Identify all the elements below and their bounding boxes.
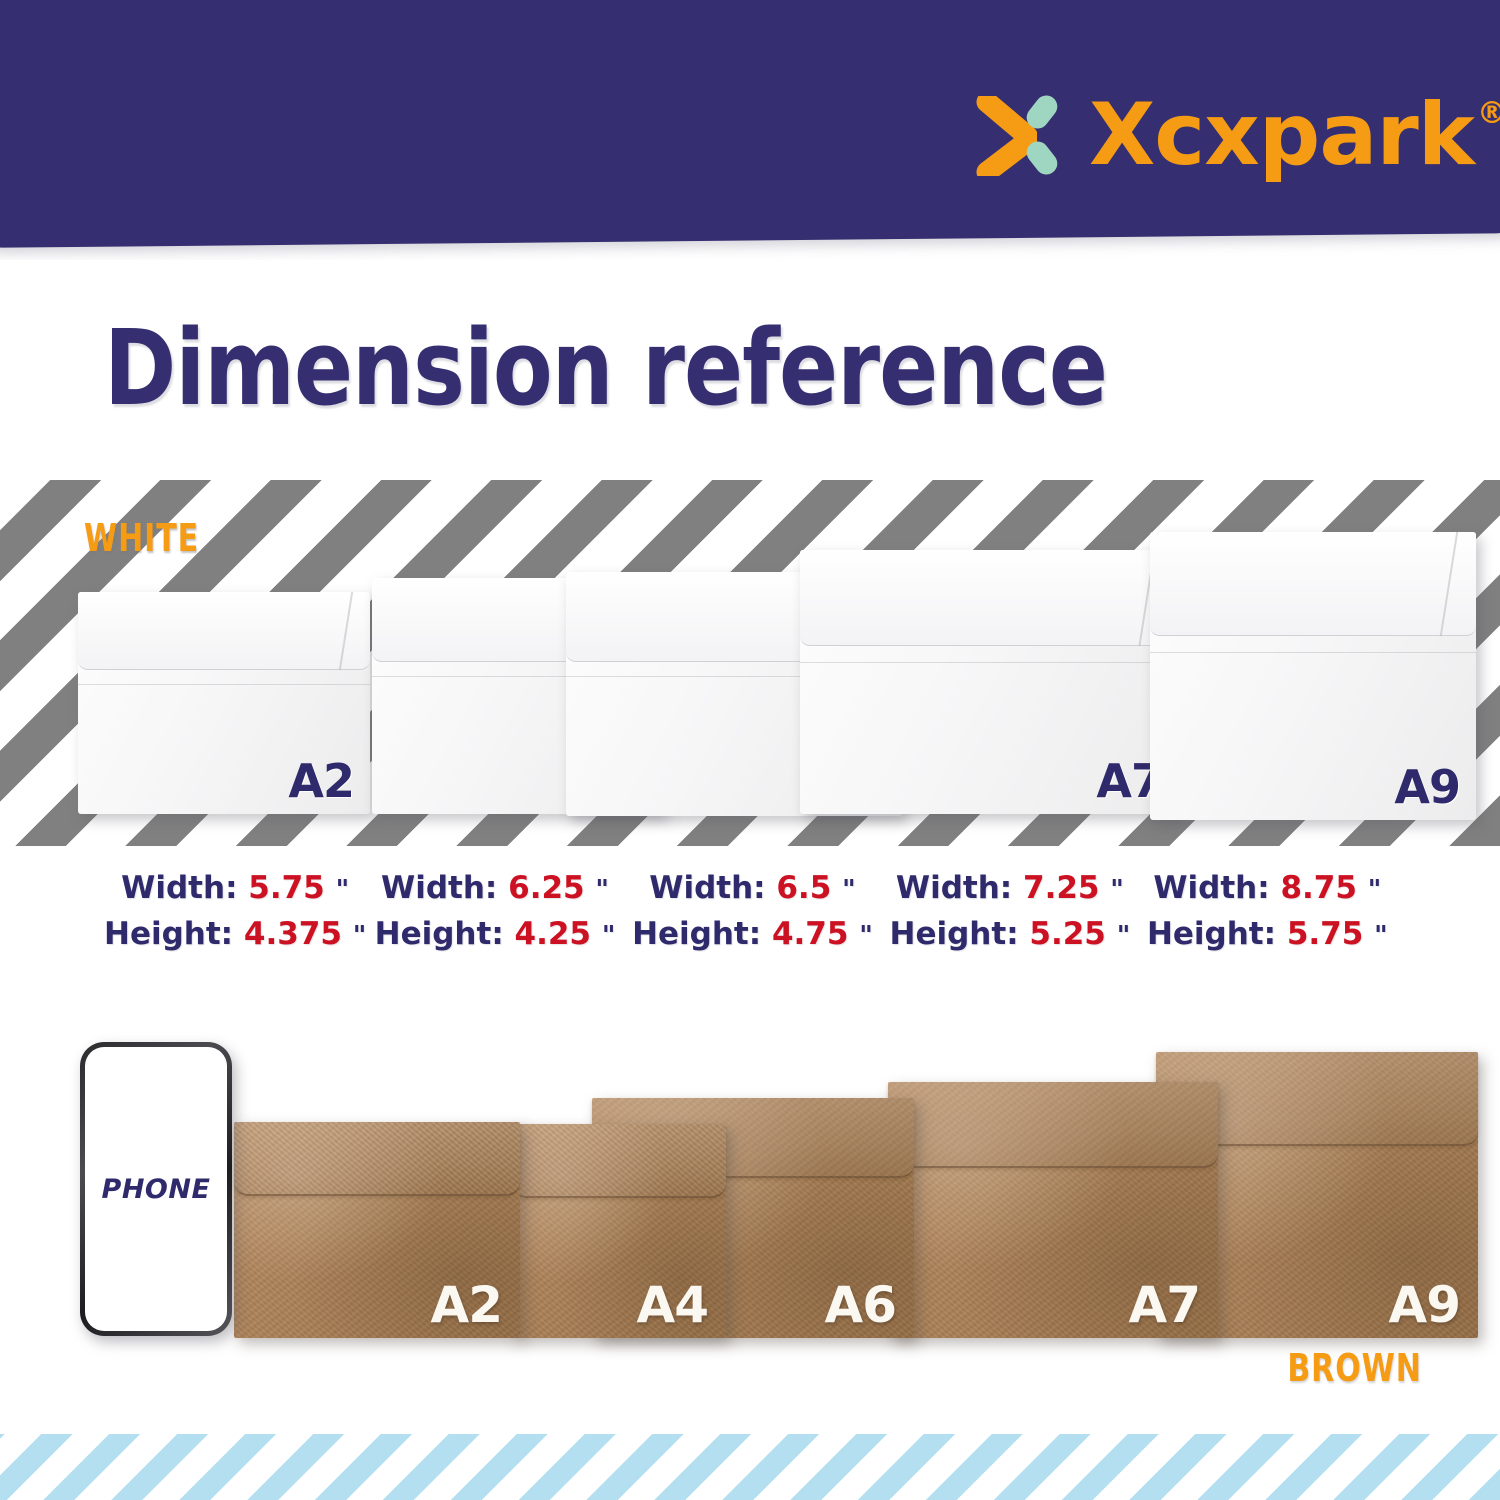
white-section-label: WHITE <box>84 516 199 560</box>
unit: " <box>602 921 616 951</box>
height-label: Height: <box>104 916 233 952</box>
envelope-flap <box>888 1082 1218 1168</box>
envelope-code: A2 <box>431 1276 503 1334</box>
unit: " <box>353 921 367 951</box>
height-row: Height: 5.75 " <box>1139 912 1396 958</box>
unit: " <box>336 875 350 905</box>
width-label: Width: <box>649 870 765 906</box>
height-label: Height: <box>1147 916 1276 952</box>
height-value: 4.25 <box>515 916 592 952</box>
width-value: 6.5 <box>776 870 831 906</box>
dimension-column-a4: Width: 6.25 " Height: 4.25 " <box>366 866 623 958</box>
width-label: Width: <box>1153 870 1269 906</box>
envelope-code: A7 <box>1129 1276 1201 1334</box>
white-envelope-a7: A7 <box>800 550 1178 814</box>
height-row: Height: 4.375 " <box>104 912 366 958</box>
envelope-code: A6 <box>825 1276 897 1334</box>
unit: " <box>1117 921 1131 951</box>
dimension-column-a2: Width: 5.75 " Height: 4.375 " <box>104 866 366 958</box>
brown-envelope-a7: A7 <box>888 1082 1218 1338</box>
height-value: 4.75 <box>772 916 849 952</box>
envelope-seam <box>78 684 370 685</box>
width-value: 5.75 <box>248 870 325 906</box>
envelope-flap <box>512 1124 726 1198</box>
phone-screen: PHONE <box>85 1047 227 1331</box>
envelope-flap <box>1150 532 1476 636</box>
width-row: Width: 7.25 " <box>881 866 1138 912</box>
mint-bars-shape <box>1015 90 1073 182</box>
white-envelope-a2: A2 <box>78 592 370 814</box>
envelope-flap <box>800 550 1178 646</box>
width-row: Width: 6.25 " <box>366 866 623 912</box>
phone-label: PHONE <box>102 1174 211 1205</box>
envelope-flap <box>234 1122 520 1196</box>
dimension-column-a9: Width: 8.75 " Height: 5.75 " <box>1139 866 1396 958</box>
dimension-column-a7: Width: 7.25 " Height: 5.25 " <box>881 866 1138 958</box>
registered-mark: ® <box>1477 99 1500 129</box>
x-logo-icon <box>975 90 1071 182</box>
dimension-column-a6: Width: 6.5 " Height: 4.75 " <box>624 866 881 958</box>
unit: " <box>842 875 856 905</box>
width-label: Width: <box>121 870 237 906</box>
width-value: 7.25 <box>1023 870 1100 906</box>
width-value: 6.25 <box>508 870 585 906</box>
page-title: Dimension reference <box>104 316 1107 420</box>
unit: " <box>1374 921 1388 951</box>
envelope-code: A4 <box>637 1276 709 1334</box>
height-value: 5.25 <box>1029 916 1106 952</box>
width-value: 8.75 <box>1280 870 1357 906</box>
height-value: 4.375 <box>244 916 342 952</box>
envelope-code: A9 <box>1389 1276 1461 1334</box>
brown-envelope-a4: A4 <box>512 1124 726 1338</box>
white-envelope-a9: A9 <box>1150 532 1476 820</box>
envelope-code: A9 <box>1394 760 1460 814</box>
width-row: Width: 6.5 " <box>624 866 881 912</box>
blue-stripe-band <box>0 1434 1500 1500</box>
brand-logo[interactable]: Xcxpark ® <box>975 90 1500 182</box>
width-row: Width: 5.75 " <box>104 866 366 912</box>
height-label: Height: <box>890 916 1019 952</box>
envelope-code: A2 <box>288 754 354 808</box>
width-label: Width: <box>896 870 1012 906</box>
height-row: Height: 4.25 " <box>366 912 623 958</box>
dimension-table: Width: 5.75 " Height: 4.375 " Width: 6.2… <box>0 866 1500 958</box>
height-row: Height: 5.25 " <box>881 912 1138 958</box>
height-label: Height: <box>375 916 504 952</box>
brand-wordmark: Xcxpark ® <box>1089 95 1500 177</box>
height-row: Height: 4.75 " <box>624 912 881 958</box>
height-label: Height: <box>632 916 761 952</box>
brown-section-label: BROWN <box>1288 1346 1422 1390</box>
envelope-seam <box>1150 652 1476 653</box>
width-label: Width: <box>381 870 497 906</box>
unit: " <box>859 921 873 951</box>
brand-name: Xcxpark <box>1089 95 1474 177</box>
brown-envelope-a2: A2 <box>234 1122 520 1338</box>
envelope-seam <box>800 662 1178 663</box>
envelope-flap <box>78 592 370 670</box>
unit: " <box>595 875 609 905</box>
unit: " <box>1368 875 1382 905</box>
height-value: 5.75 <box>1287 916 1364 952</box>
phone-mockup: PHONE <box>80 1042 232 1336</box>
unit: " <box>1110 875 1124 905</box>
width-row: Width: 8.75 " <box>1139 866 1396 912</box>
